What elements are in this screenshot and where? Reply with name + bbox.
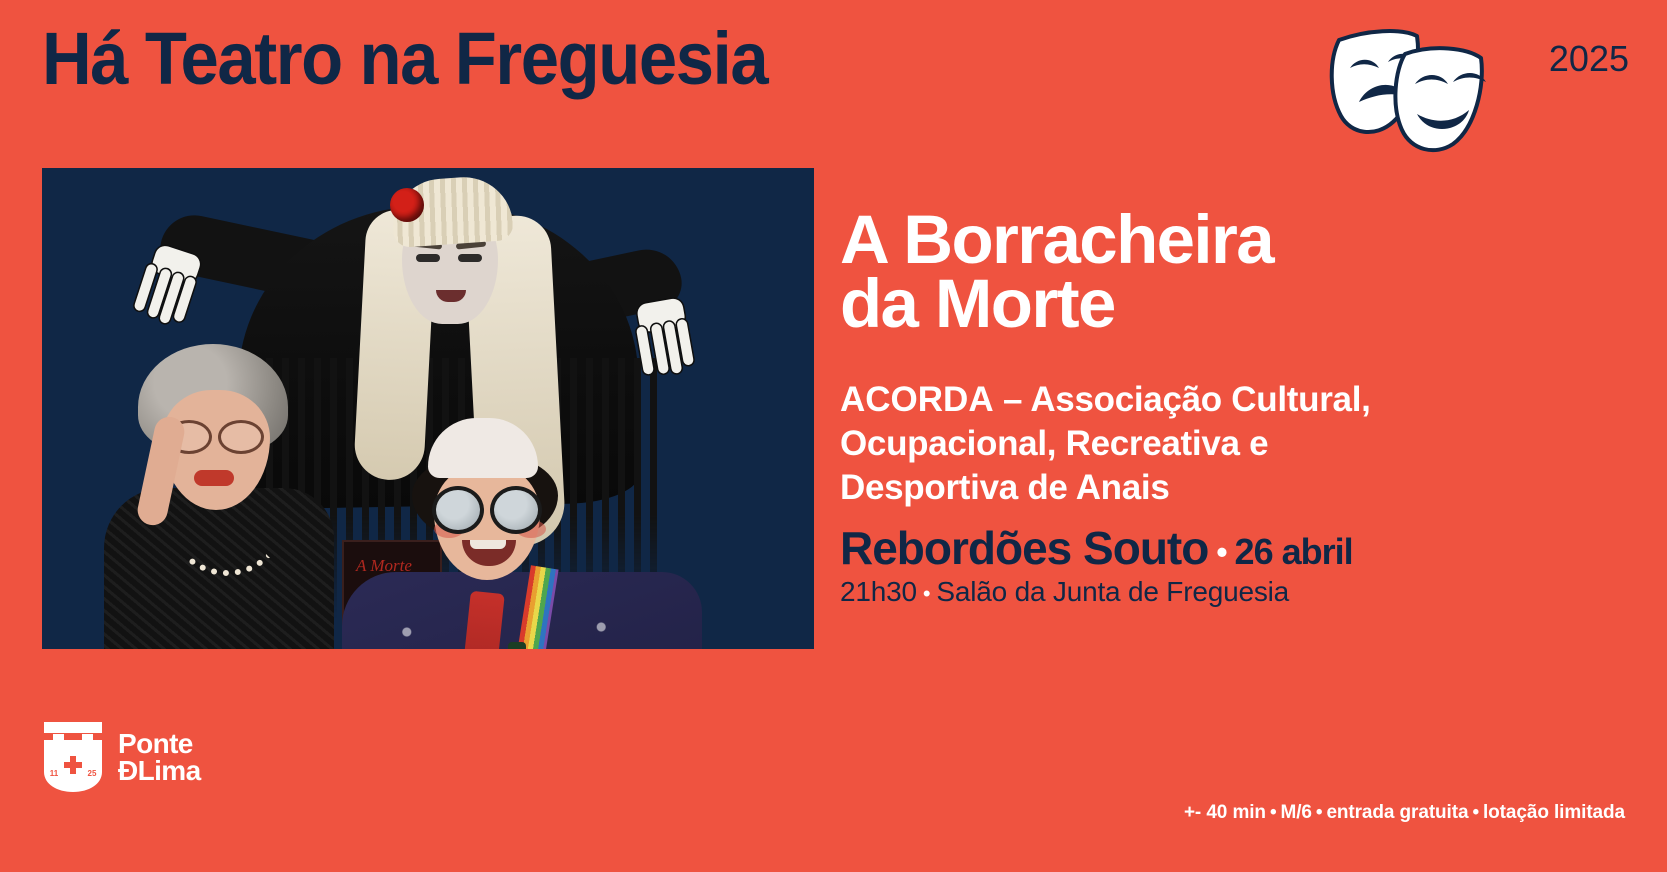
company-line1: ACORDA – Associação Cultural,: [840, 378, 1630, 422]
time-and-venue: 21h30•Salão da Junta de Freguesia: [840, 576, 1630, 608]
event-details: +- 40 min•M/6•entrada gratuita•lotação l…: [1184, 802, 1625, 824]
skeleton-hand-right-icon: [632, 293, 707, 381]
place-and-date: Rebordões Souto•26 abril: [840, 524, 1630, 573]
separator-dot: •: [1266, 802, 1281, 823]
logo-wordmark: Ponte ÐLima: [118, 730, 201, 785]
festival-title: Há Teatro na Freguesia: [42, 22, 767, 96]
production-photo: A Morte: [42, 168, 814, 649]
logo-word-line2: ÐLima: [118, 757, 201, 784]
venue-name: Salão da Junta de Freguesia: [936, 576, 1289, 607]
year-label: 2025: [1549, 38, 1629, 80]
theatre-masks-icon: [1309, 22, 1519, 157]
logo-word-line1: Ponte: [118, 730, 201, 757]
price-label: entrada gratuita: [1326, 802, 1468, 823]
separator-dot: •: [1208, 534, 1234, 570]
duration-label: +- 40 min: [1184, 802, 1266, 823]
company-acronym: ACORDA: [840, 380, 994, 419]
event-time: 21h30: [840, 576, 917, 607]
logo-right-number: 25: [88, 769, 97, 778]
red-rose-icon: [390, 188, 424, 222]
ponte-de-lima-shield-icon: 11 25: [42, 720, 104, 794]
company-suffix: – Associação Cultural,: [994, 380, 1371, 419]
play-title-line1: A Borracheira: [840, 208, 1630, 272]
separator-dot: •: [1312, 802, 1327, 823]
logo-left-number: 11: [50, 769, 59, 778]
company-line2: Ocupacional, Recreativa e: [840, 422, 1630, 466]
photo-stage: A Morte: [42, 168, 814, 649]
ponte-de-lima-logo: 11 25 Ponte ÐLima: [42, 720, 201, 794]
event-poster: Há Teatro na Freguesia 2025: [0, 0, 1667, 872]
age-rating-label: M/6: [1281, 802, 1312, 823]
separator-dot: •: [917, 581, 937, 606]
place-name: Rebordões Souto: [840, 522, 1208, 574]
play-title: A Borracheira da Morte: [840, 208, 1630, 336]
man-round-glasses-icon: [428, 486, 546, 526]
separator-dot: •: [1468, 802, 1483, 823]
company-line3: Desportiva de Anais: [840, 466, 1630, 510]
capacity-label: lotação limitada: [1483, 802, 1625, 823]
play-title-line2: da Morte: [840, 272, 1630, 336]
company-name: ACORDA – Associação Cultural, Ocupaciona…: [840, 378, 1630, 509]
event-date: 26 abril: [1235, 531, 1353, 572]
